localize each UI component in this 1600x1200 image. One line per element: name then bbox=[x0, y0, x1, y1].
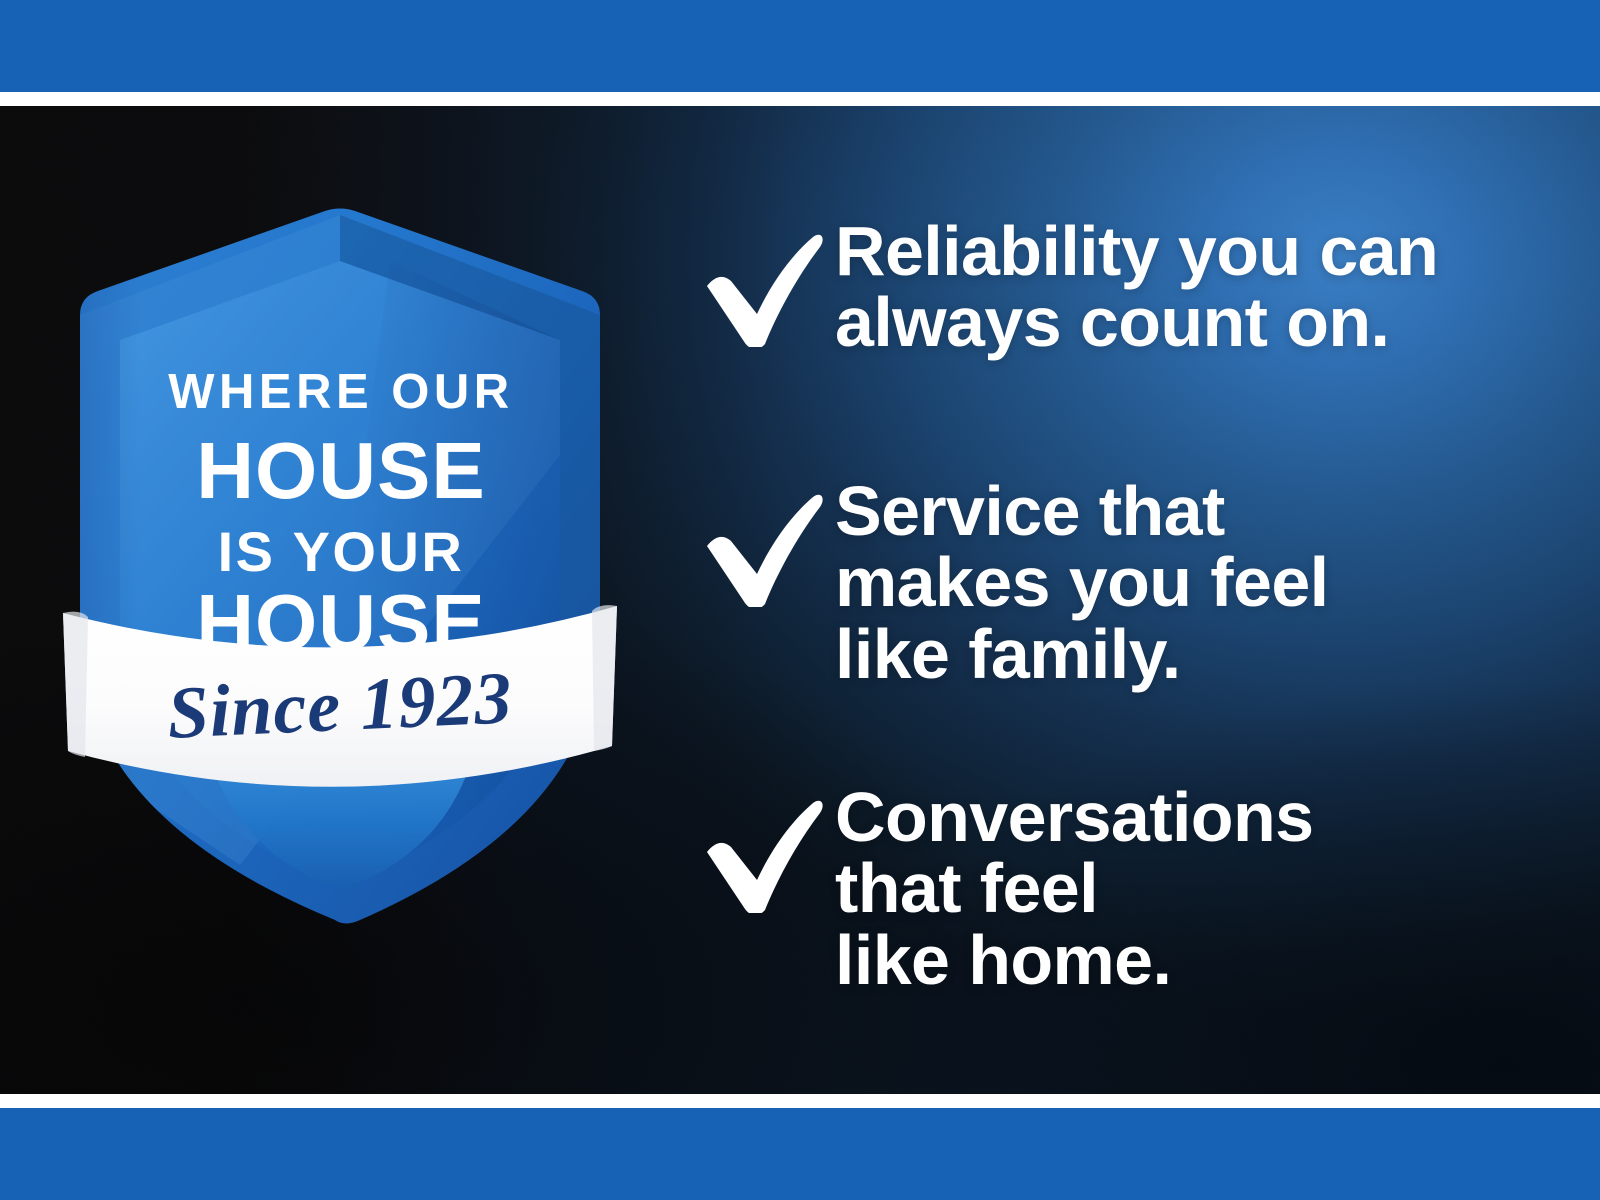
benefit-text: Service that makes you feel like family. bbox=[835, 476, 1329, 690]
ribbon-fold-left bbox=[63, 612, 88, 757]
ribbon-label: Since 1923 bbox=[166, 657, 514, 755]
benefit-text: Conversations that feel like home. bbox=[835, 782, 1313, 996]
shield-line-1: WHERE OUR bbox=[168, 365, 513, 419]
brand-bar-bottom-rule bbox=[0, 1094, 1600, 1108]
benefits-list: Reliability you can always count on. Ser… bbox=[665, 106, 1565, 1094]
benefit-text: Reliability you can always count on. bbox=[835, 216, 1438, 359]
checkmark-icon bbox=[685, 216, 835, 347]
checkmark-icon bbox=[685, 476, 835, 607]
shield-line-3: IS YOUR bbox=[218, 520, 465, 583]
ribbon-fold-right bbox=[592, 605, 617, 751]
shield-shade-left bbox=[80, 205, 140, 945]
checkmark-icon bbox=[685, 782, 835, 913]
benefit-item: Reliability you can always count on. bbox=[685, 216, 1438, 359]
brand-bar-bottom bbox=[0, 1108, 1600, 1200]
promo-poster: WHERE OUR HOUSE IS YOUR HOUSE Since 1923… bbox=[0, 0, 1600, 1200]
shield-line-2: HOUSE bbox=[196, 426, 486, 515]
benefit-item: Conversations that feel like home. bbox=[685, 782, 1313, 996]
shield-badge: WHERE OUR HOUSE IS YOUR HOUSE Since 1923 bbox=[60, 165, 620, 955]
benefit-item: Service that makes you feel like family. bbox=[685, 476, 1329, 690]
brand-bar-top bbox=[0, 0, 1600, 92]
brand-bar-top-rule bbox=[0, 92, 1600, 106]
